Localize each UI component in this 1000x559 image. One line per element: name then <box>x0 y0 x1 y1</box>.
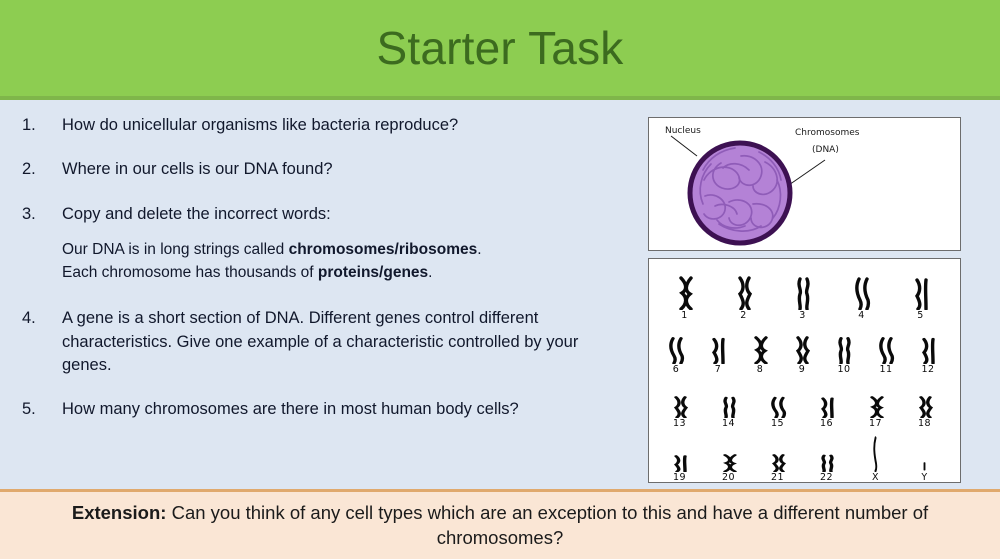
question-number: 4. <box>22 307 62 330</box>
chromosomes-label: Chromosomes <box>795 128 859 138</box>
chromosome-pair-9: 9 <box>781 328 823 375</box>
slide-body: 1. How do unicellular organisms like bac… <box>0 100 1000 489</box>
chromosome-glyph <box>781 328 823 364</box>
karyotype-row: 12345 <box>655 266 954 320</box>
chromosome-pair-10: 10 <box>823 328 865 375</box>
line2-prefix: Each chromosome has thousands of <box>62 264 318 281</box>
question-number: 2. <box>22 158 62 181</box>
chromosome-label: 5 <box>891 311 950 321</box>
chromosome-label: 12 <box>907 365 949 375</box>
slide: Starter Task 1. How do unicellular organ… <box>0 0 1000 559</box>
chromosome-pair-11: 11 <box>865 328 907 375</box>
chromosome-pair-6: 6 <box>655 328 697 375</box>
chromosome-glyph <box>851 382 900 418</box>
line1-choice: chromosomes/ribosomes <box>289 241 478 258</box>
chromosome-shape <box>750 336 770 364</box>
chromosome-pair-20: 20 <box>704 436 753 483</box>
chromosome-shape <box>918 336 938 364</box>
paragraph-line-1: Our DNA is in long strings called chromo… <box>62 241 482 258</box>
chromosome-shape <box>870 436 881 472</box>
nucleus-diagram-panel: Nucleus Chromosomes (DNA) <box>648 117 961 251</box>
chromosome-glyph <box>900 436 949 472</box>
chromosome-pair-16: 16 <box>802 382 851 429</box>
chromosome-shape <box>666 336 686 364</box>
chromosome-pair-1: 1 <box>655 274 714 321</box>
chromosome-label: 21 <box>753 473 802 483</box>
chromosome-glyph <box>655 274 714 310</box>
slide-header: Starter Task <box>0 0 1000 96</box>
extension-band: Extension: Can you think of any cell typ… <box>0 492 1000 559</box>
chromosome-label: 1 <box>655 311 714 321</box>
chromosome-pair-18: 18 <box>900 382 949 429</box>
chromosome-shape <box>670 396 690 418</box>
chromosome-glyph <box>753 382 802 418</box>
chromosome-label: 7 <box>697 365 739 375</box>
chromosome-glyph <box>851 436 900 472</box>
chromosome-glyph <box>891 274 950 310</box>
chromosome-pair-Y: Y <box>900 436 949 483</box>
chromosome-pair-8: 8 <box>739 328 781 375</box>
chromosome-shape <box>915 396 935 418</box>
chromosome-glyph <box>907 328 949 364</box>
chromosome-pair-21: 21 <box>753 436 802 483</box>
chromosome-shape <box>670 454 690 472</box>
chromosome-shape <box>817 396 837 418</box>
chromosome-glyph <box>900 382 949 418</box>
chromosome-glyph <box>704 436 753 472</box>
chromosome-glyph <box>773 274 832 310</box>
paragraph-line-2: Each chromosome has thousands of protein… <box>62 264 432 281</box>
dna-label: (DNA) <box>812 145 839 155</box>
chromosome-pair-7: 7 <box>697 328 739 375</box>
chromosome-label: 2 <box>714 311 773 321</box>
chromosome-shape <box>852 276 872 310</box>
chromosome-label: 18 <box>900 419 949 429</box>
chromosome-shape <box>734 276 754 310</box>
question-text: Copy and delete the incorrect words: <box>62 203 331 226</box>
chromosome-shape <box>834 336 854 364</box>
line2-choice: proteins/genes <box>318 264 428 281</box>
chromosome-label: 19 <box>655 473 704 483</box>
chromosome-label: 15 <box>753 419 802 429</box>
question-text: How do unicellular organisms like bacter… <box>62 114 458 137</box>
chromosome-label: 11 <box>865 365 907 375</box>
list-item: 2. Where in our cells is our DNA found? <box>22 158 622 181</box>
chromosome-glyph <box>655 382 704 418</box>
chromosome-shape <box>708 336 728 364</box>
question-number: 3. <box>22 203 62 226</box>
nucleus-label: Nucleus <box>665 126 701 136</box>
chromosome-label: 13 <box>655 419 704 429</box>
question-text: How many chromosomes are there in most h… <box>62 398 519 421</box>
question-text: Where in our cells is our DNA found? <box>62 158 333 181</box>
chromosome-label: 22 <box>802 473 851 483</box>
chromosome-pair-2: 2 <box>714 274 773 321</box>
chromosome-glyph <box>655 328 697 364</box>
chromosome-label: 8 <box>739 365 781 375</box>
chromosome-pair-14: 14 <box>704 382 753 429</box>
copy-and-delete-paragraph: Our DNA is in long strings called chromo… <box>62 239 602 285</box>
list-item: 4. A gene is a short section of DNA. Dif… <box>22 307 622 377</box>
chromosome-pair-19: 19 <box>655 436 704 483</box>
chromosome-glyph <box>714 274 773 310</box>
chromosome-shape <box>793 276 813 310</box>
chromosome-label: 16 <box>802 419 851 429</box>
chromosome-glyph <box>753 436 802 472</box>
extension-text: Extension: Can you think of any cell typ… <box>26 501 974 550</box>
chromosome-label: 4 <box>832 311 891 321</box>
question-list: 1. How do unicellular organisms like bac… <box>22 114 622 443</box>
list-item: 3. Copy and delete the incorrect words: <box>22 203 622 226</box>
chromosome-shape <box>719 454 739 472</box>
chromosome-shape <box>768 454 788 472</box>
chromosome-shape <box>675 276 695 310</box>
karyotype-panel: 12345678910111213141516171819202122XY <box>648 258 961 483</box>
chromosome-shape <box>817 454 837 472</box>
chromosome-glyph <box>802 382 851 418</box>
karyotype-row: 6789101112 <box>655 320 954 374</box>
line1-suffix: . <box>477 241 481 258</box>
line2-suffix: . <box>428 264 432 281</box>
chromosome-pair-3: 3 <box>773 274 832 321</box>
chromosome-pair-5: 5 <box>891 274 950 321</box>
question-number: 5. <box>22 398 62 421</box>
chromosome-pair-12: 12 <box>907 328 949 375</box>
chromosome-pair-X: X <box>851 436 900 483</box>
chromosome-label: X <box>851 473 900 483</box>
chromosome-pair-22: 22 <box>802 436 851 483</box>
nucleus-leader-line <box>671 136 697 156</box>
chromosome-shape <box>911 276 931 310</box>
extension-label: Extension: <box>72 502 167 523</box>
chromosome-glyph <box>697 328 739 364</box>
chromosome-shape <box>792 336 812 364</box>
page-title: Starter Task <box>377 25 624 71</box>
chromosome-glyph <box>739 328 781 364</box>
chromosome-glyph <box>832 274 891 310</box>
chromosome-glyph <box>823 328 865 364</box>
list-item: 5. How many chromosomes are there in mos… <box>22 398 622 421</box>
chromosome-label: 3 <box>773 311 832 321</box>
question-text: A gene is a short section of DNA. Differ… <box>62 307 607 377</box>
extension-question: Can you think of any cell types which ar… <box>166 502 928 547</box>
chromosome-label: 9 <box>781 365 823 375</box>
line1-prefix: Our DNA is in long strings called <box>62 241 289 258</box>
chromosome-label: 17 <box>851 419 900 429</box>
chromosome-glyph <box>704 382 753 418</box>
chromosome-shape <box>919 460 930 472</box>
list-item: 1. How do unicellular organisms like bac… <box>22 114 622 137</box>
chromosome-label: 14 <box>704 419 753 429</box>
chromosome-pair-13: 13 <box>655 382 704 429</box>
chromosome-label: Y <box>900 473 949 483</box>
chromosome-pair-15: 15 <box>753 382 802 429</box>
chromosome-glyph <box>802 436 851 472</box>
chromosome-shape <box>768 396 788 418</box>
karyotype-grid: 12345678910111213141516171819202122XY <box>649 259 960 482</box>
chromosome-glyph <box>655 436 704 472</box>
chromosome-shape <box>719 396 739 418</box>
chromosome-label: 6 <box>655 365 697 375</box>
karyotype-row: 19202122XY <box>655 428 954 482</box>
chromosome-pair-17: 17 <box>851 382 900 429</box>
chromosome-label: 10 <box>823 365 865 375</box>
question-number: 1. <box>22 114 62 137</box>
karyotype-row: 131415161718 <box>655 374 954 428</box>
chromosome-glyph <box>865 328 907 364</box>
chromosome-shape <box>866 396 886 418</box>
chromosome-label: 20 <box>704 473 753 483</box>
chromosome-shape <box>876 336 896 364</box>
chromosome-pair-4: 4 <box>832 274 891 321</box>
